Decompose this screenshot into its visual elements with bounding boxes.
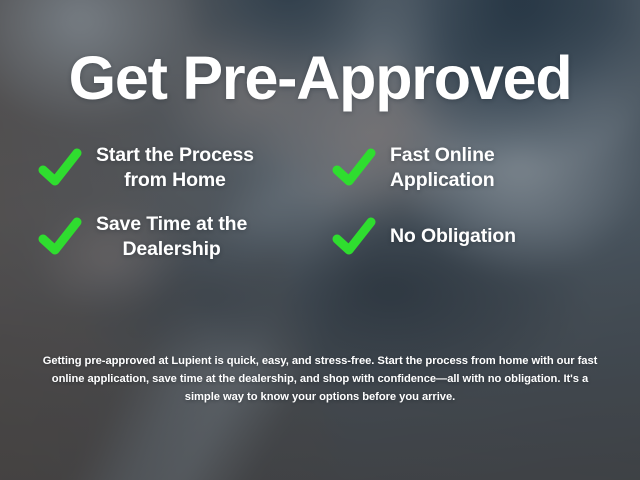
promo-banner: Get Pre-Approved Start the Process from …: [0, 0, 640, 480]
feature-label-line1: Save Time at the: [96, 213, 247, 235]
feature-label-line1: Fast Online: [390, 144, 495, 166]
feature-item-no-obligation: No Obligation: [320, 212, 618, 263]
feature-label-line2: Application: [390, 169, 495, 191]
feature-label-line2: from Home: [124, 169, 226, 191]
feature-item-save-time-at-the-dealership: Save Time at the Dealership: [22, 212, 320, 263]
check-icon: [38, 217, 82, 257]
feature-label: Start the Process from Home: [96, 143, 254, 194]
feature-label: No Obligation: [390, 224, 516, 249]
description-paragraph: Getting pre-approved at Lupient is quick…: [40, 352, 600, 406]
feature-label-line2: Dealership: [122, 238, 220, 260]
page-title: Get Pre-Approved: [69, 48, 572, 109]
feature-label: Save Time at the Dealership: [96, 212, 247, 263]
banner-content: Get Pre-Approved Start the Process from …: [0, 0, 640, 480]
feature-item-start-the-process: Start the Process from Home: [22, 143, 320, 194]
feature-item-fast-online-application: Fast Online Application: [320, 143, 618, 194]
check-icon: [332, 217, 376, 257]
feature-label: Fast Online Application: [390, 143, 495, 194]
check-icon: [38, 148, 82, 188]
feature-grid: Start the Process from Home Fast Online …: [22, 143, 618, 262]
check-icon: [332, 148, 376, 188]
feature-label-line1: No Obligation: [390, 225, 516, 247]
feature-label-line1: Start the Process: [96, 144, 254, 166]
